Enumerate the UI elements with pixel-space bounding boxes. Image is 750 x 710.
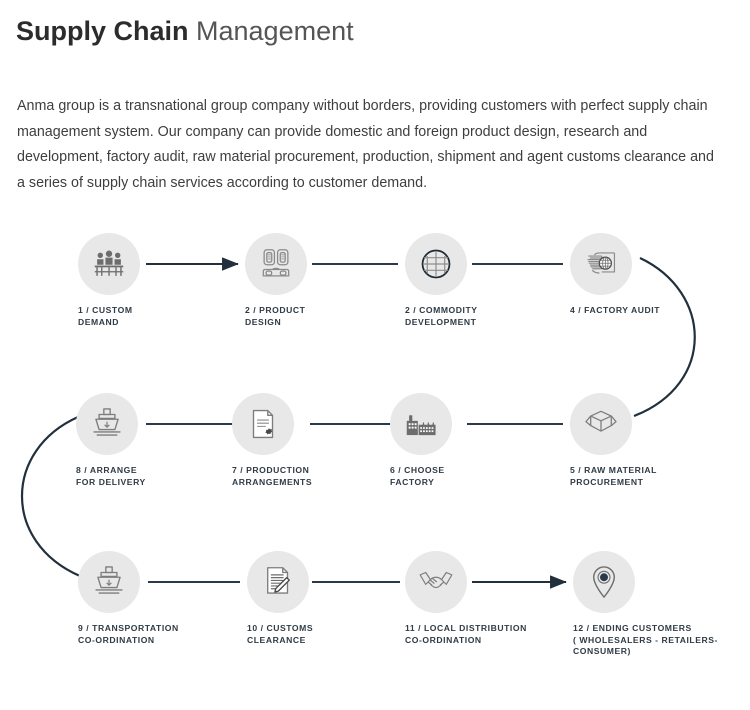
flow-step-7[interactable]: 7 / PRODUCTION ARRANGEMENTS (232, 393, 372, 488)
flow-step-3-label: 2 / COMMODITY DEVELOPMENT (405, 305, 545, 328)
flow-step-7-bubble (232, 393, 294, 455)
flow-step-7-label: 7 / PRODUCTION ARRANGEMENTS (232, 465, 372, 488)
flow-step-1-bubble (78, 233, 140, 295)
hand-globe-icon (582, 245, 620, 283)
flow-step-10-bubble (247, 551, 309, 613)
flow-step-12[interactable]: 12 / ENDING CUSTOMERS ( WHOLESALERS - RE… (573, 551, 748, 658)
flow-step-5[interactable]: 5 / RAW MATERIAL PROCUREMENT (570, 393, 710, 488)
flow-step-2[interactable]: 2 / PRODUCT DESIGN (245, 233, 385, 328)
flow-step-9[interactable]: 9 / TRANSPORTATION CO-ORDINATION (78, 551, 218, 646)
supply-chain-page: Supply Chain Management Anma group is a … (0, 0, 750, 710)
flow-step-8-bubble (76, 393, 138, 455)
document-pen-icon (259, 563, 297, 601)
flow-step-9-bubble (78, 551, 140, 613)
flow-step-1[interactable]: 1 / CUSTOM DEMAND (78, 233, 218, 328)
flow-step-5-label: 5 / RAW MATERIAL PROCUREMENT (570, 465, 710, 488)
intro-paragraph: Anma group is a transnational group comp… (17, 94, 717, 196)
flow-step-10[interactable]: 10 / CUSTOMS CLEARANCE (247, 551, 387, 646)
flow-step-2-bubble (245, 233, 307, 295)
flow-step-12-label: 12 / ENDING CUSTOMERS ( WHOLESALERS - RE… (573, 623, 748, 658)
globe-grid-icon (417, 245, 455, 283)
flow-step-11-bubble (405, 551, 467, 613)
flow-step-8-label: 8 / ARRANGE FOR DELIVERY (76, 465, 216, 488)
flow-step-5-bubble (570, 393, 632, 455)
page-title-light: Management (189, 16, 354, 46)
flow-step-6-label: 6 / CHOOSE FACTORY (390, 465, 530, 488)
supply-chain-flow: 1 / CUSTOM DEMAND (0, 212, 750, 682)
meeting-icon (90, 245, 128, 283)
flow-step-3-bubble (405, 233, 467, 295)
flow-step-9-label: 9 / TRANSPORTATION CO-ORDINATION (78, 623, 218, 646)
flow-step-4-bubble (570, 233, 632, 295)
flow-step-8[interactable]: 8 / ARRANGE FOR DELIVERY (76, 393, 216, 488)
handshake-icon (417, 563, 455, 601)
open-box-icon (582, 405, 620, 443)
flow-step-3[interactable]: 2 / COMMODITY DEVELOPMENT (405, 233, 545, 328)
page-title-strong: Supply Chain (16, 16, 189, 46)
flow-step-10-label: 10 / CUSTOMS CLEARANCE (247, 623, 387, 646)
map-pin-icon (585, 563, 623, 601)
flow-step-2-label: 2 / PRODUCT DESIGN (245, 305, 385, 328)
page-title: Supply Chain Management (16, 14, 354, 48)
document-seal-icon (244, 405, 282, 443)
flow-step-12-bubble (573, 551, 635, 613)
flow-step-1-label: 1 / CUSTOM DEMAND (78, 305, 218, 328)
flow-step-6-bubble (390, 393, 452, 455)
cargo-ship-icon (90, 563, 128, 601)
connector-8-9-curve (22, 417, 80, 576)
flow-step-11-label: 11 / LOCAL DISTRIBUTION CO-ORDINATION (405, 623, 545, 646)
flow-step-4-label: 4 / FACTORY AUDIT (570, 305, 710, 317)
flow-step-6[interactable]: 6 / CHOOSE FACTORY (390, 393, 530, 488)
flow-step-4[interactable]: 4 / FACTORY AUDIT (570, 233, 710, 317)
factory-icon (402, 405, 440, 443)
flow-step-11[interactable]: 11 / LOCAL DISTRIBUTION CO-ORDINATION (405, 551, 545, 646)
car-seats-icon (257, 245, 295, 283)
cargo-ship-icon (88, 405, 126, 443)
